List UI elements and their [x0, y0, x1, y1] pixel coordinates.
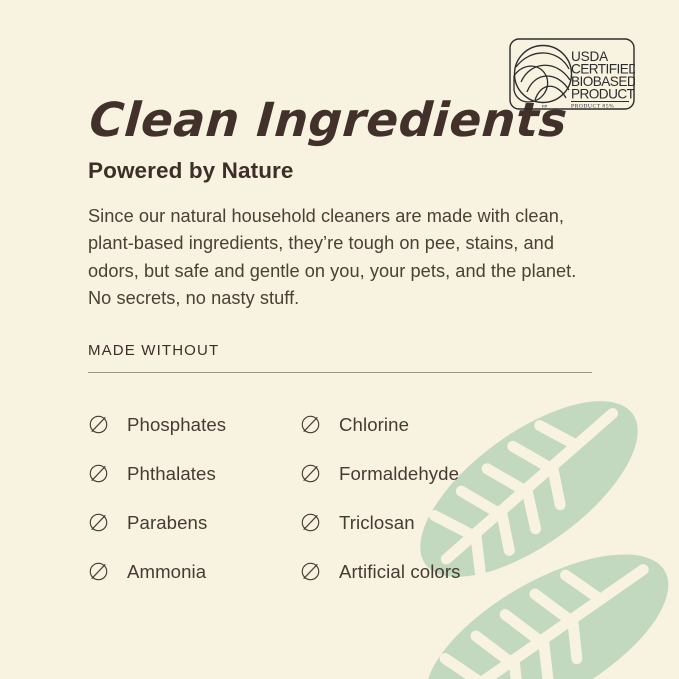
list-item-label: Triclosan — [339, 512, 415, 534]
list-item-label: Formaldehyde — [339, 463, 459, 485]
made-without-column-right: Chlorine Formaldehyde Triclosan — [300, 400, 590, 596]
made-without-list: Phosphates Phthalates Parabens — [88, 373, 608, 596]
list-item: Phthalates — [88, 449, 300, 498]
list-item-label: Artificial colors — [339, 561, 461, 583]
no-symbol-icon — [300, 561, 321, 582]
no-symbol-icon — [300, 512, 321, 533]
list-item-label: Chlorine — [339, 414, 409, 436]
badge-fineprint: PRODUCT 85% — [571, 104, 614, 110]
no-symbol-icon — [88, 414, 109, 435]
no-symbol-icon — [88, 463, 109, 484]
usda-biobased-badge: USDA CERTIFIED BIOBASED PRODUCT PRODUCT … — [509, 38, 635, 110]
made-without-heading: MADE WITHOUT — [88, 312, 608, 359]
badge-fp-mark: FP — [542, 104, 548, 109]
clean-ingredients-infographic: USDA CERTIFIED BIOBASED PRODUCT PRODUCT … — [0, 0, 679, 679]
list-item: Parabens — [88, 498, 300, 547]
list-item-label: Ammonia — [127, 561, 206, 583]
list-item: Ammonia — [88, 547, 300, 596]
list-item: Formaldehyde — [300, 449, 590, 498]
no-symbol-icon — [300, 463, 321, 484]
list-item-label: Phthalates — [127, 463, 216, 485]
list-item-label: Phosphates — [127, 414, 226, 436]
badge-line-4: PRODUCT — [571, 87, 635, 102]
list-item: Artificial colors — [300, 547, 590, 596]
list-item: Triclosan — [300, 498, 590, 547]
list-item: Chlorine — [300, 400, 590, 449]
made-without-column-left: Phosphates Phthalates Parabens — [88, 400, 300, 596]
list-item-label: Parabens — [127, 512, 207, 534]
page-subtitle: Powered by Nature — [88, 144, 608, 184]
list-item: Phosphates — [88, 400, 300, 449]
no-symbol-icon — [88, 512, 109, 533]
no-symbol-icon — [88, 561, 109, 582]
badge-sun-field-logo — [514, 46, 572, 103]
no-symbol-icon — [300, 414, 321, 435]
body-paragraph: Since our natural household cleaners are… — [88, 184, 593, 312]
